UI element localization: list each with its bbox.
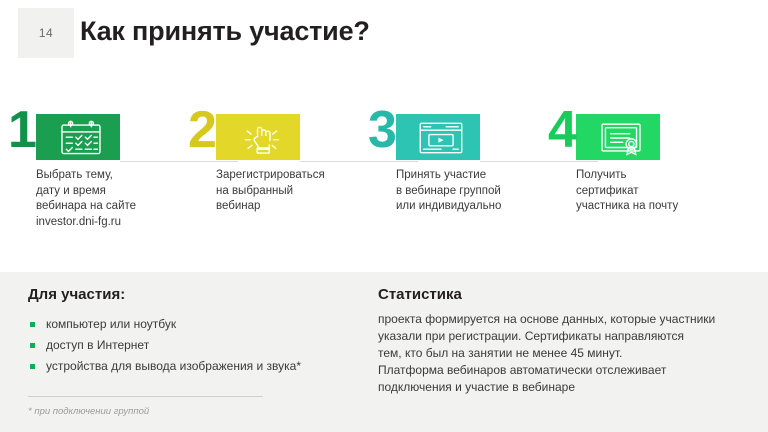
list-item-label: компьютер или ноутбук: [46, 317, 176, 331]
step-number-1: 1: [8, 104, 35, 156]
list-item: устройства для вывода изображения и звук…: [28, 359, 358, 374]
list-item-label: доступ в Интернет: [46, 338, 149, 352]
statistics-line: тем, кто был на занятии не менее 45 мину…: [378, 345, 748, 362]
requirements-column: Для участия: компьютер или ноутбук досту…: [28, 286, 358, 417]
video-window-icon: [414, 119, 468, 157]
step-text-1: Выбрать тему, дату и время вебинара на с…: [36, 168, 196, 230]
statistics-column: Статистика проекта формируется на основе…: [378, 286, 748, 396]
footnote-divider: [28, 396, 263, 397]
step-number-3: 3: [368, 104, 395, 156]
list-item: компьютер или ноутбук: [28, 317, 358, 332]
list-item-label: устройства для вывода изображения и звук…: [46, 359, 301, 373]
slide-header: 14 Как принять участие?: [0, 0, 768, 70]
slide-number: 14: [39, 26, 53, 40]
step-text-3: Принять участие в вебинаре группой или и…: [396, 168, 556, 215]
step-graphic-3: 3: [368, 104, 553, 160]
step-number-4: 4: [548, 104, 575, 156]
step-item-2[interactable]: 2 Зарегистрироваться на выбранный веби: [188, 104, 373, 160]
step-graphic-1: 1: [8, 104, 193, 160]
bullet-icon: [30, 364, 35, 369]
page-title: Как принять участие?: [80, 16, 370, 47]
bullet-icon: [30, 322, 35, 327]
statistics-line: подключения и участие в вебинаре: [378, 379, 748, 396]
step-connector-1-2: [120, 161, 238, 162]
slide-number-badge: 14: [18, 8, 74, 58]
requirements-title: Для участия:: [28, 286, 358, 303]
calendar-check-icon: [54, 119, 108, 157]
certificate-icon: [594, 119, 648, 157]
step-connector-2-3: [300, 161, 418, 162]
tap-hand-icon: [234, 119, 288, 157]
step-item-4[interactable]: 4 Получить сертификат участника на почту: [548, 104, 733, 160]
statistics-title: Статистика: [378, 286, 748, 303]
statistics-body: проекта формируется на основе данных, ко…: [378, 311, 748, 396]
requirements-list: компьютер или ноутбук доступ в Интернет …: [28, 317, 358, 374]
steps-section: 1: [0, 104, 768, 244]
step-text-2: Зарегистрироваться на выбранный вебинар: [216, 168, 376, 215]
statistics-line: проекта формируется на основе данных, ко…: [378, 311, 748, 328]
list-item: доступ в Интернет: [28, 338, 358, 353]
step-item-1[interactable]: 1: [8, 104, 193, 160]
statistics-line: Платформа вебинаров автоматически отслеж…: [378, 362, 748, 379]
statistics-line: указали при регистрации. Сертификаты нап…: [378, 328, 748, 345]
bottom-panel: Для участия: компьютер или ноутбук досту…: [0, 272, 768, 432]
step-item-3[interactable]: 3 Принять участие в вебинаре группой или…: [368, 104, 553, 160]
step-connector-3-4: [480, 161, 598, 162]
step-graphic-4: 4: [548, 104, 733, 160]
step-text-4: Получить сертификат участника на почту: [576, 168, 736, 215]
step-graphic-2: 2: [188, 104, 373, 160]
footnote-text: * при подключении группой: [28, 406, 358, 417]
bullet-icon: [30, 343, 35, 348]
step-number-2: 2: [188, 104, 215, 156]
